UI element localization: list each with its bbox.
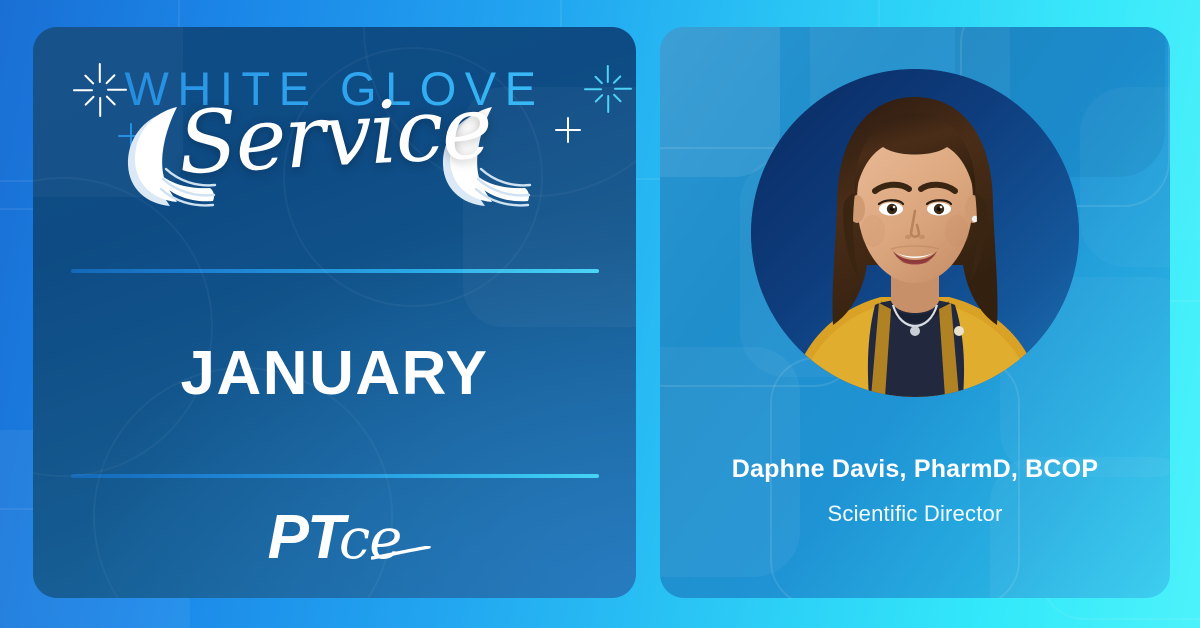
month-label: JANUARY: [181, 273, 489, 474]
left-card: WHITE GLOVE: [33, 27, 636, 598]
person-title: Scientific Director: [828, 501, 1003, 527]
headshot-photo: [751, 69, 1079, 397]
ptce-logo: PTce: [268, 507, 402, 569]
white-glove-lockup: WHITE GLOVE: [33, 41, 636, 231]
ptce-logo-script: ce: [339, 507, 402, 572]
poster-stage: WHITE GLOVE: [0, 0, 1200, 628]
person-name: Daphne Davis, PharmD, BCOP: [732, 455, 1098, 484]
ptce-logo-primary: PT: [268, 503, 343, 572]
avatar: [751, 69, 1079, 397]
right-card: Daphne Davis, PharmD, BCOP Scientific Di…: [660, 27, 1170, 598]
ptce-logo-wrap: PTce: [33, 478, 636, 598]
